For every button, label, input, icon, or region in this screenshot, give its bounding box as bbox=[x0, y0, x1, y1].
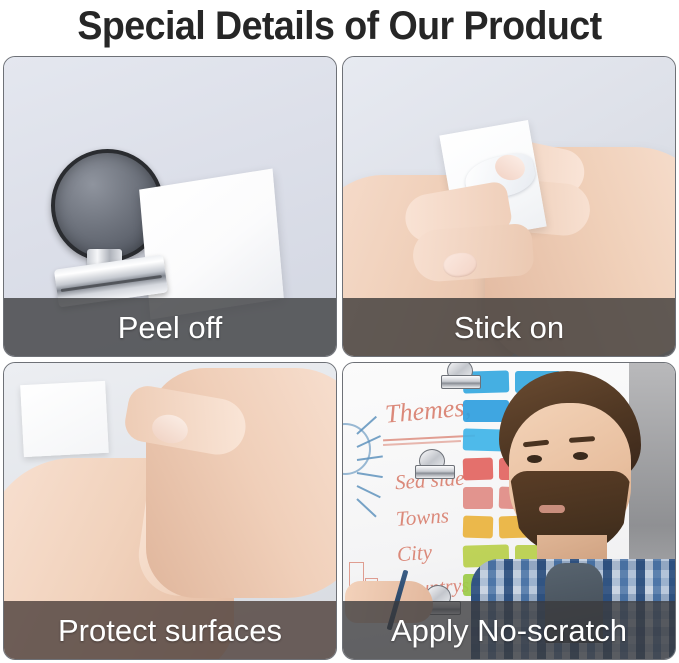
whiteboard-line-city: City bbox=[396, 540, 433, 567]
panel-caption-apply-no-scratch: Apply No-scratch bbox=[343, 601, 675, 659]
mouth bbox=[539, 505, 565, 513]
white-adhesive-square bbox=[20, 381, 109, 457]
sun-ray bbox=[357, 485, 381, 498]
heading-underline-secondary bbox=[383, 440, 461, 446]
panel-grid: Peel off Stick on bbox=[3, 56, 676, 660]
page-title: Special Details of Our Product bbox=[20, 0, 658, 52]
sun-ray bbox=[356, 498, 376, 517]
panel-caption-peel-off: Peel off bbox=[4, 298, 336, 356]
whiteboard-heading: Themes, bbox=[384, 392, 472, 429]
panel-caption-protect-surfaces: Protect surfaces bbox=[4, 601, 336, 659]
right-eye bbox=[573, 452, 588, 460]
whiteboard-line-towns: Towns bbox=[395, 503, 450, 532]
left-index-finger bbox=[411, 223, 534, 283]
panel-apply-no-scratch[interactable]: Themes, Sea side Towns City Countryside bbox=[342, 362, 676, 660]
panel-protect-surfaces[interactable]: Protect surfaces bbox=[3, 362, 337, 660]
panel-stick-on[interactable]: Stick on bbox=[342, 56, 676, 357]
sun-ray bbox=[357, 472, 383, 478]
panel-caption-stick-on: Stick on bbox=[343, 298, 675, 356]
left-eye bbox=[527, 455, 542, 463]
sun-ray bbox=[356, 416, 377, 435]
product-detail-infographic: Special Details of Our Product Peel off bbox=[0, 0, 679, 663]
white-adhesive-square bbox=[139, 169, 284, 320]
panel-peel-off[interactable]: Peel off bbox=[3, 56, 337, 357]
